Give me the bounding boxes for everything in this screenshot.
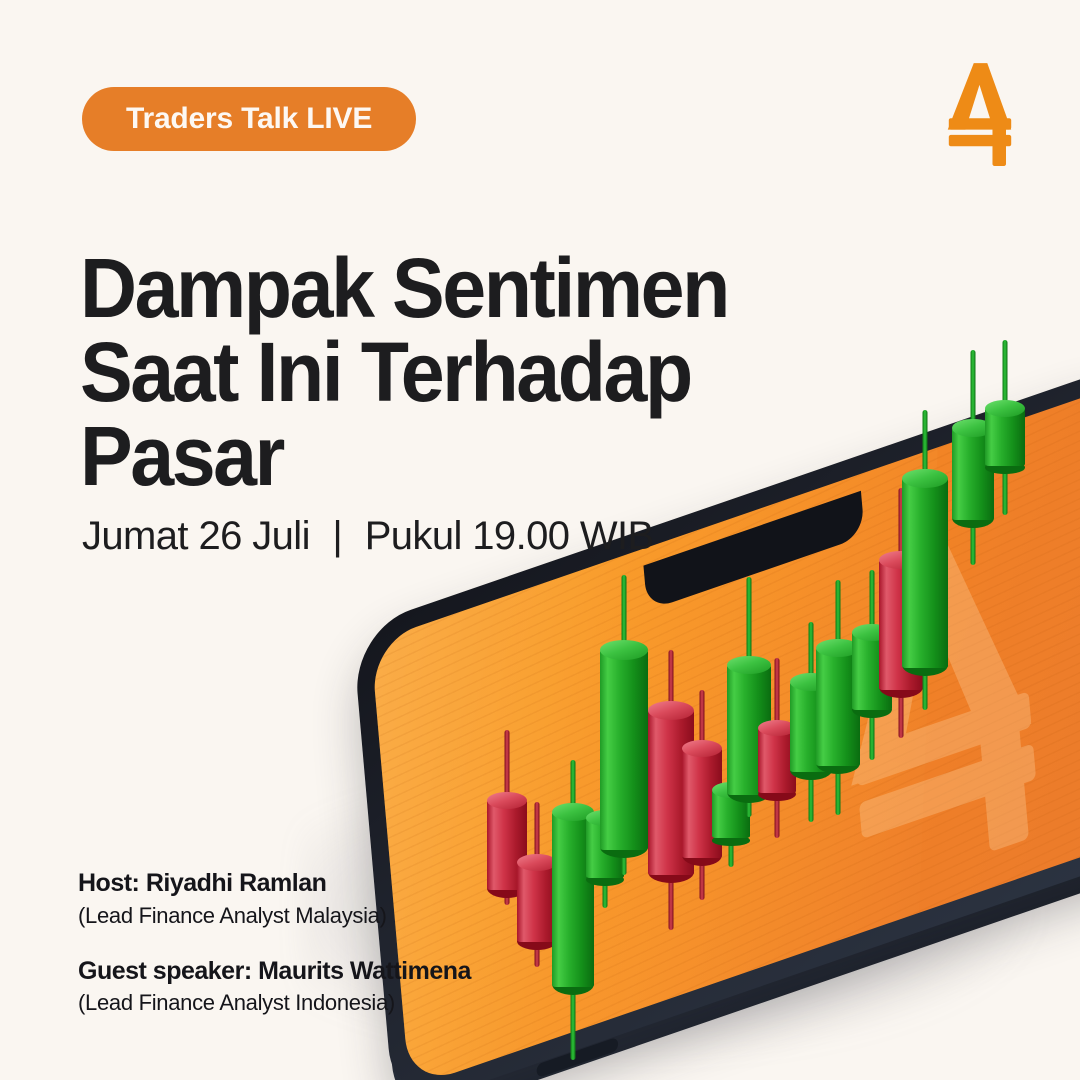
candlestick-16-bullish: [952, 428, 994, 520]
candle-body: [600, 650, 648, 850]
candle-body-cap: [648, 701, 694, 720]
candle-wick: [809, 622, 814, 822]
candle-body-base: [952, 508, 994, 528]
candle-wick: [700, 690, 705, 900]
schedule-time: Pukul 19.00 WIB: [365, 514, 654, 558]
brand-logo-icon: [928, 58, 1032, 168]
candle-body-base: [985, 461, 1025, 474]
schedule-line: Jumat 26 Juli | Pukul 19.00 WIB: [82, 514, 654, 559]
screen-watermark-logo-icon: [769, 478, 1080, 924]
phone-side-button: [536, 1037, 618, 1078]
candle-body-base: [487, 878, 527, 898]
candle-body-cap: [852, 624, 892, 641]
candle-body-base: [586, 873, 624, 886]
candlestick-7-bearish: [682, 748, 722, 858]
headline-line-1: Dampak Sentimen: [80, 246, 757, 330]
candle-wick: [1003, 340, 1008, 515]
candle-body-cap: [952, 419, 994, 437]
candle-wick: [775, 658, 780, 838]
candle-wick: [603, 758, 608, 908]
schedule-date: Jumat 26 Juli: [82, 514, 310, 558]
guest-role: (Lead Finance Analyst Indonesia): [78, 989, 471, 1018]
candle-body: [682, 748, 722, 858]
candle-body-cap: [600, 640, 648, 660]
candle-body: [902, 478, 948, 668]
candle-body: [552, 812, 594, 987]
candle-body-base: [902, 654, 948, 676]
guest-name: Guest speaker: Maurits Wattimena: [78, 956, 471, 987]
schedule-separator: |: [320, 514, 354, 559]
candle-wick: [836, 580, 841, 815]
candlestick-6-bearish: [648, 710, 694, 875]
candle-wick: [535, 802, 540, 967]
candle-wick: [571, 760, 576, 1060]
candlestick-12-bullish: [816, 648, 860, 766]
candlestick-1-bearish: [487, 800, 527, 890]
headline-line-3: Pasar: [80, 414, 757, 498]
page-title: Dampak Sentimen Saat Ini Terhadap Pasar: [80, 246, 800, 498]
candle-body-base: [682, 844, 722, 866]
candle-body-cap: [552, 803, 594, 821]
host-name: Host: Riyadhi Ramlan: [78, 868, 471, 899]
candle-wick: [870, 570, 875, 760]
candle-body-cap: [902, 469, 948, 488]
candle-body: [712, 790, 750, 838]
candlestick-3-bullish: [552, 812, 594, 987]
candlestick-9-bullish: [727, 665, 771, 795]
candlestick-17-bullish: [985, 408, 1025, 466]
candle-body-base: [712, 835, 750, 846]
candle-body: [758, 728, 796, 793]
candle-body: [487, 800, 527, 890]
candle-body: [648, 710, 694, 875]
candlestick-5-bullish: [600, 650, 648, 850]
candle-body-cap: [790, 673, 832, 691]
candle-body-cap: [712, 782, 750, 798]
candlestick-13-bullish: [852, 632, 892, 710]
candle-wick: [669, 650, 674, 930]
candle-body-cap: [758, 720, 796, 736]
live-badge: Traders Talk LIVE: [82, 87, 416, 151]
host-credit: Host: Riyadhi Ramlan (Lead Finance Analy…: [78, 868, 471, 930]
candle-body: [952, 428, 994, 520]
candle-body: [517, 862, 557, 942]
candlestick-15-bullish: [902, 478, 948, 668]
candle-body-cap: [517, 854, 557, 871]
candle-body-cap: [682, 740, 722, 757]
host-role: (Lead Finance Analyst Malaysia): [78, 902, 471, 931]
candle-wick: [899, 488, 904, 738]
candle-wick: [622, 575, 627, 875]
candle-body-base: [648, 861, 694, 883]
candle-body-cap: [727, 656, 771, 674]
promo-poster: Traders Talk LIVE Dampak Sentimen Saat I…: [0, 0, 1080, 1080]
candle-body-base: [852, 701, 892, 718]
candle-body-base: [758, 787, 796, 801]
candlestick-14-bearish: [879, 560, 923, 690]
candle-body-base: [816, 752, 860, 774]
candle-body: [985, 408, 1025, 466]
candle-body-cap: [586, 810, 624, 826]
candle-wick: [971, 350, 976, 565]
candle-body-cap: [879, 551, 923, 569]
candle-body-base: [790, 760, 832, 780]
candle-body: [790, 682, 832, 772]
candle-wick: [747, 577, 752, 817]
candlestick-10-bearish: [758, 728, 796, 793]
candle-wick: [729, 742, 734, 867]
candle-body-cap: [985, 400, 1025, 417]
candle-body-base: [552, 973, 594, 995]
candle-body-base: [600, 836, 648, 858]
candle-body: [879, 560, 923, 690]
candle-body: [852, 632, 892, 710]
candle-body-cap: [487, 792, 527, 809]
candlestick-2-bearish: [517, 862, 557, 942]
candle-body-cap: [816, 639, 860, 657]
candle-body-base: [879, 676, 923, 698]
candle-wick: [923, 410, 928, 710]
headline-line-2: Saat Ini Terhadap: [80, 330, 757, 414]
phone-notch: [643, 491, 864, 611]
candle-body-base: [727, 781, 771, 803]
candle-body: [727, 665, 771, 795]
credits-block: Host: Riyadhi Ramlan (Lead Finance Analy…: [78, 868, 471, 1018]
candlestick-11-bullish: [790, 682, 832, 772]
candlestick-4-bullish: [586, 818, 624, 878]
candle-body: [586, 818, 624, 878]
candle-wick: [505, 730, 510, 905]
candle-body: [816, 648, 860, 766]
guest-credit: Guest speaker: Maurits Wattimena (Lead F…: [78, 956, 471, 1018]
candle-body-base: [517, 932, 557, 950]
candlestick-8-bullish: [712, 790, 750, 838]
